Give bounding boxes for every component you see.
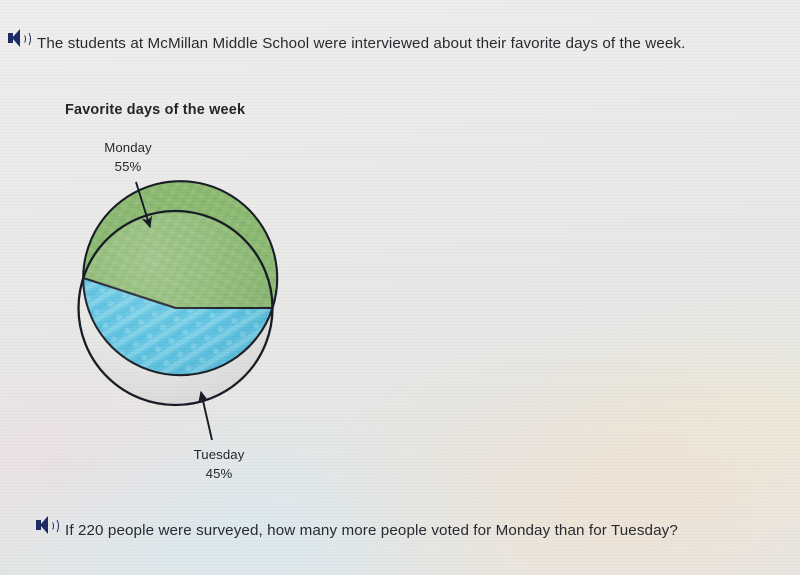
chart-title: Favorite days of the week — [65, 102, 245, 118]
pie-outline — [79, 211, 273, 405]
tuesday-label-percent: 45% — [173, 464, 265, 483]
pie-chart: Favorite days of the week Monday 55% Tue… — [0, 0, 360, 400]
pie-svg — [60, 170, 300, 460]
speaker-wave-outer — [50, 518, 59, 534]
prompt-bottom-text: If 220 people were surveyed, how many mo… — [65, 516, 678, 546]
prompt-bottom: If 220 people were surveyed, how many mo… — [36, 516, 736, 546]
screenshot-canvas: The students at McMillan Middle School w… — [0, 0, 800, 575]
speaker-icon[interactable] — [36, 516, 58, 534]
speaker-cone — [40, 516, 48, 534]
monday-label-name: Monday — [82, 138, 174, 157]
